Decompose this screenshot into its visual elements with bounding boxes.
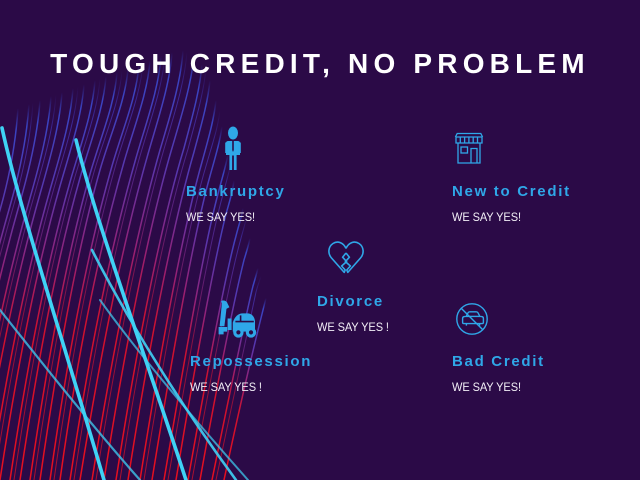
feature-subtext: WE SAY YES ! [317,321,389,333]
feature-subtext: WE SAY YES! [452,211,561,223]
credit-promo-banner: TOUGH CREDIT, NO PROBLEM Bankruptcy WE S… [0,0,640,480]
broken-heart-icon [317,236,395,282]
feature-new-to-credit: New to Credit WE SAY YES! [452,126,571,223]
person-icon [186,126,286,172]
feature-label: Divorce [317,294,395,309]
storefront-icon [452,126,571,172]
feature-bankruptcy: Bankruptcy WE SAY YES! [186,126,286,223]
feature-subtext: WE SAY YES ! [190,381,302,393]
no-car-icon [452,296,545,342]
feature-label: Bad Credit [452,354,545,369]
feature-label: Repossession [190,354,312,369]
feature-label: Bankruptcy [186,184,286,199]
feature-repossession: Repossession WE SAY YES ! [190,296,312,393]
feature-label: New to Credit [452,184,571,199]
tow-truck-icon [190,296,312,342]
feature-divorce: Divorce WE SAY YES ! [317,236,395,333]
feature-subtext: WE SAY YES! [452,381,537,393]
page-title: TOUGH CREDIT, NO PROBLEM [0,48,640,80]
feature-subtext: WE SAY YES! [186,211,278,223]
feature-bad-credit: Bad Credit WE SAY YES! [452,296,545,393]
